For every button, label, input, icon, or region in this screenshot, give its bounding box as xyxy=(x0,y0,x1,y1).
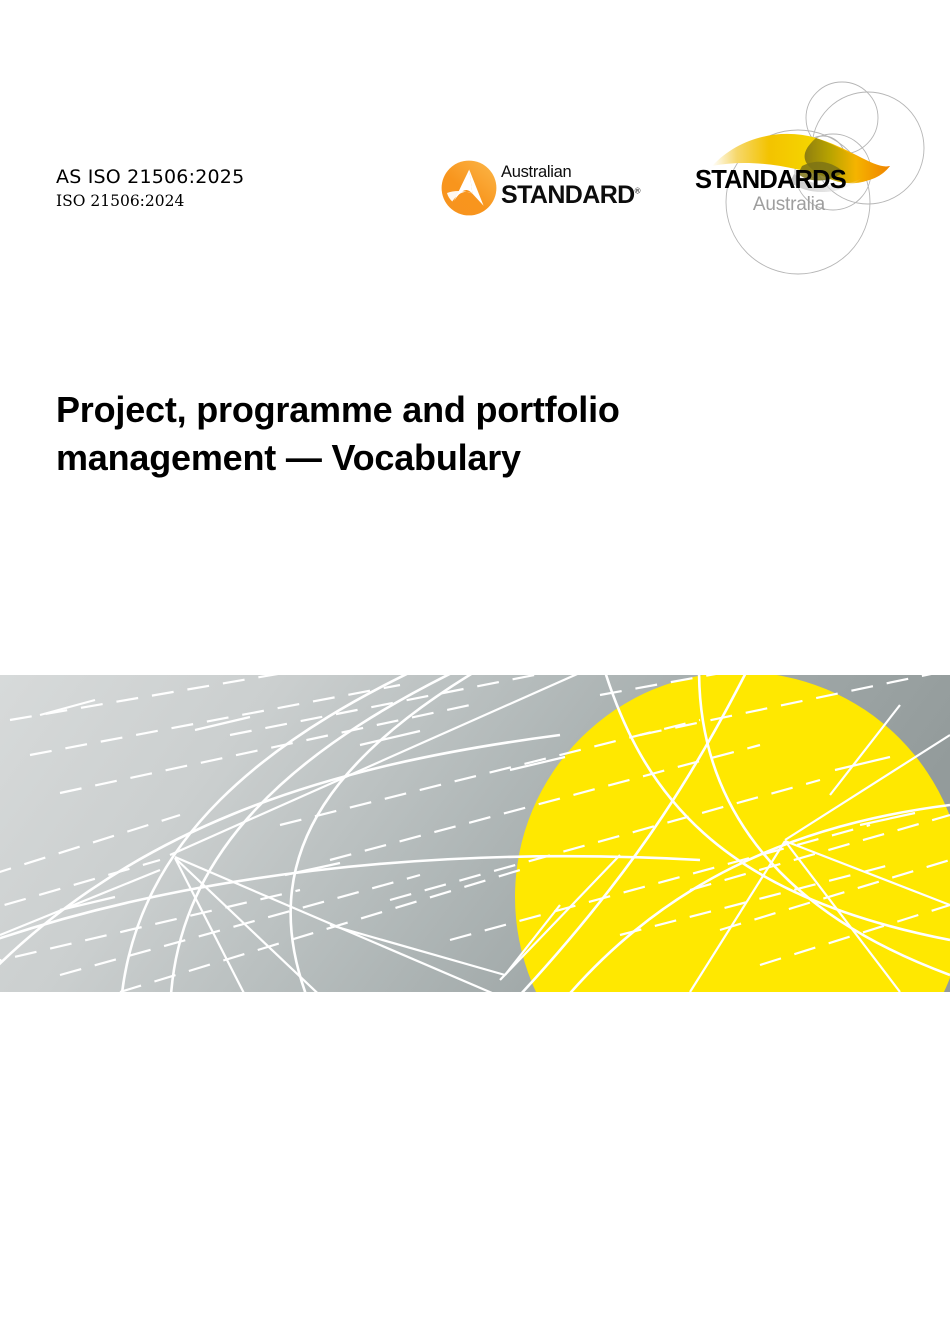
standards-australia-logo: STANDARDS Australia xyxy=(690,62,940,292)
standard-designation-block: AS ISO 21506:2025 ISO 21506:2024 xyxy=(56,168,244,210)
australian-standard-line2: STANDARD® xyxy=(501,183,636,208)
cover-artwork-graphic xyxy=(0,675,950,992)
page-title: Project, programme and portfolio managem… xyxy=(56,386,736,482)
australian-standard-logo: Australian STANDARD® xyxy=(441,160,636,218)
standards-australia-line1: STANDARDS xyxy=(695,168,825,194)
australian-standard-line2-text: STANDARD xyxy=(501,181,635,209)
cover-artwork-banner xyxy=(0,675,950,992)
australian-standard-line1: Australian xyxy=(501,164,636,181)
registered-trademark-icon: ® xyxy=(635,186,640,195)
standards-australia-line2: Australia xyxy=(695,195,825,214)
australian-standard-mark-icon xyxy=(441,160,497,216)
designation-iso-number: ISO 21506:2024 xyxy=(56,194,244,210)
australian-standard-wordmark: Australian STANDARD® xyxy=(501,164,636,212)
standards-australia-wordmark: STANDARDS Australia xyxy=(695,168,825,214)
designation-as-number: AS ISO 21506:2025 xyxy=(56,168,244,187)
